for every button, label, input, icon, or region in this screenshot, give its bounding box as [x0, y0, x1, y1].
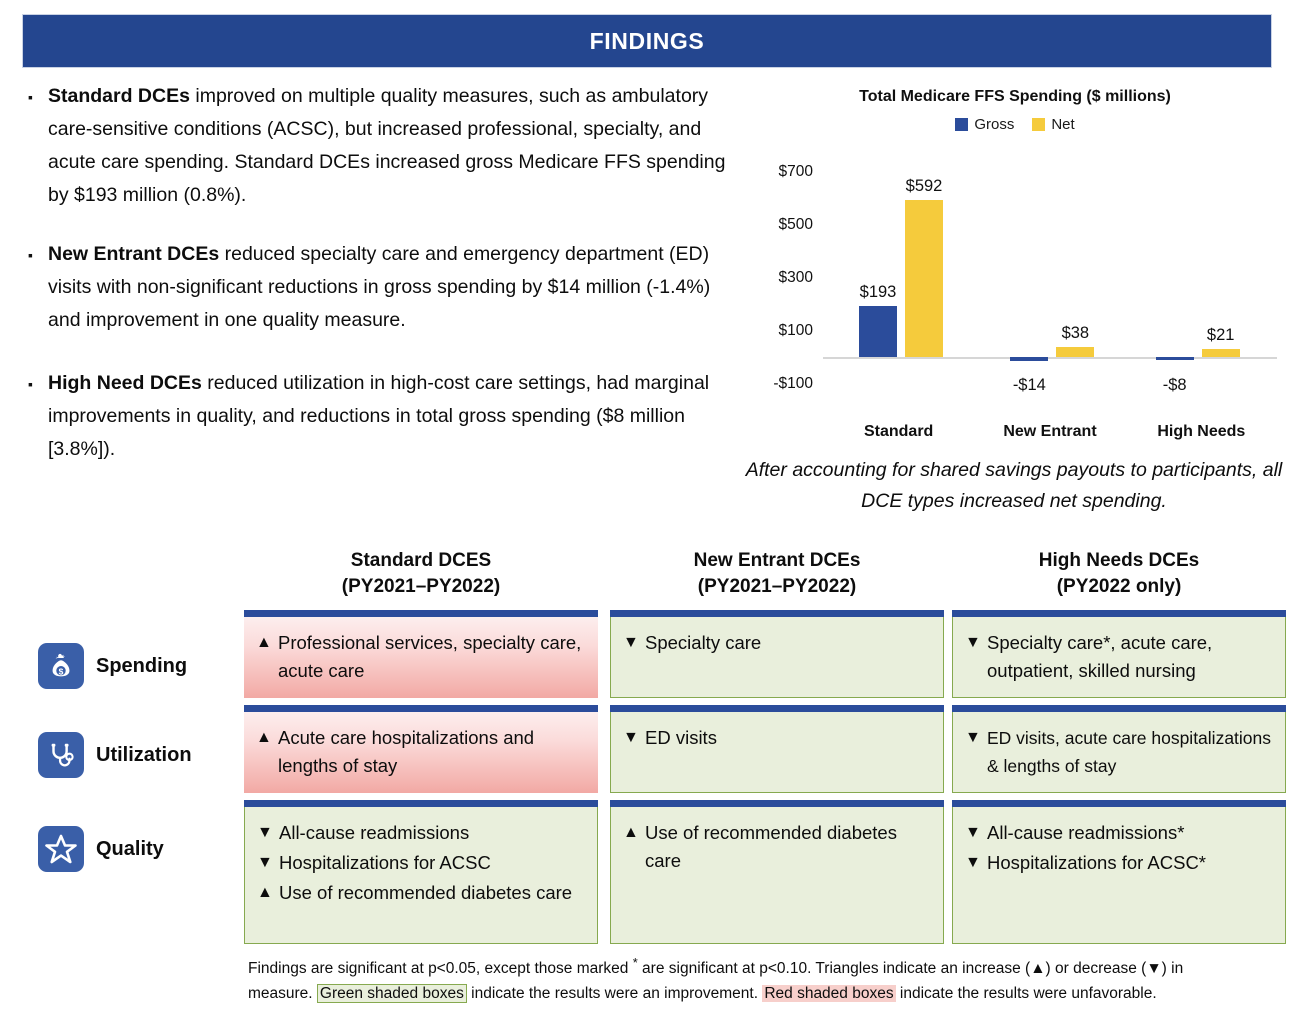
list-item: ▼ Hospitalizations for ACSC: [257, 849, 587, 877]
cell-spending-standard: ▲ Professional services, specialty care,…: [244, 610, 598, 698]
list-item-text: Professional services, specialty care, a…: [278, 629, 588, 685]
bar-group-high-needs: -$8 $21: [1126, 147, 1277, 397]
list-item: ▼ Hospitalizations for ACSC*: [965, 849, 1275, 877]
cell-top-accent: [244, 800, 598, 807]
list-item: ▲ Use of recommended diabetes care: [257, 879, 587, 907]
list-item: ▲ Acute care hospitalizations and length…: [256, 724, 588, 780]
triangle-down-icon: ▼: [965, 724, 987, 752]
bar-high-needs-gross: [1156, 357, 1194, 360]
bar-group-new-entrant: -$14 $38: [974, 147, 1125, 397]
cell-quality-standard: ▼ All-cause readmissions ▼ Hospitalizati…: [244, 800, 598, 944]
findings-bullet-list: ▪ Standard DCEs improved on multiple qua…: [28, 80, 734, 492]
footnote-green-phrase: Green shaded boxes: [317, 984, 467, 1003]
matrix-column-headers: Standard DCES (PY2021–PY2022) New Entran…: [22, 548, 1270, 608]
column-header-line1: New Entrant DCEs: [610, 548, 944, 574]
list-item: ▼ ED visits: [623, 724, 933, 752]
list-item: ▲ Use of recommended diabetes care: [623, 819, 933, 875]
column-header-line1: Standard DCES: [244, 548, 598, 574]
cell-quality-high-needs: ▼ All-cause readmissions* ▼ Hospitalizat…: [952, 800, 1286, 944]
cell-top-accent: [244, 705, 598, 712]
footnote-red-phrase: Red shaded boxes: [762, 985, 895, 1002]
list-item: ▼ Specialty care: [623, 629, 933, 657]
cell-top-accent: [952, 705, 1286, 712]
list-item-text: Acute care hospitalizations and lengths …: [278, 724, 588, 780]
bar-label-high-needs-gross: -$8: [1163, 376, 1187, 395]
bullet-text: Standard DCEs improved on multiple quali…: [48, 80, 734, 212]
cell-top-accent: [952, 610, 1286, 617]
legend-swatch-net: [1032, 118, 1045, 131]
bullet-lead: High Need DCEs: [48, 372, 202, 394]
bar-new-entrant-net: [1056, 347, 1094, 357]
cell-body: ▼ ED visits, acute care hospitalizations…: [952, 712, 1286, 793]
cell-top-accent: [610, 705, 944, 712]
triangle-down-icon: ▼: [623, 629, 645, 657]
bar-standard-gross: [859, 306, 897, 357]
chart-title: Total Medicare FFS Spending ($ millions): [745, 88, 1285, 106]
row-label-quality: Quality: [38, 826, 164, 872]
cell-body: ▼ All-cause readmissions* ▼ Hospitalizat…: [952, 807, 1286, 944]
cell-body: ▼ Specialty care: [610, 617, 944, 698]
bar-group-standard: $193 $592: [823, 147, 974, 397]
list-item-text: Hospitalizations for ACSC*: [987, 849, 1275, 877]
list-item: ▪ Standard DCEs improved on multiple qua…: [28, 80, 734, 212]
triangle-down-icon: ▼: [257, 819, 279, 847]
x-label-standard: Standard: [823, 423, 974, 441]
triangle-down-icon: ▼: [257, 849, 279, 877]
stethoscope-icon: [38, 732, 84, 778]
bar-label-new-entrant-gross: -$14: [1013, 376, 1046, 395]
cell-body: ▼ ED visits: [610, 712, 944, 793]
money-bag-icon: $: [38, 643, 84, 689]
x-axis-labels: Standard New Entrant High Needs: [823, 423, 1277, 441]
triangle-up-icon: ▲: [623, 819, 645, 847]
svg-text:$: $: [59, 666, 64, 676]
column-header-line1: High Needs DCEs: [952, 548, 1286, 574]
list-item-text: Specialty care*, acute care, outpatient,…: [987, 629, 1275, 685]
column-header-standard: Standard DCES (PY2021–PY2022): [244, 548, 598, 600]
triangle-up-icon: ▲: [256, 629, 278, 657]
list-item-text: Hospitalizations for ACSC: [279, 849, 587, 877]
cell-utilization-standard: ▲ Acute care hospitalizations and length…: [244, 705, 598, 793]
cell-top-accent: [952, 800, 1286, 807]
column-header-new-entrant: New Entrant DCEs (PY2021–PY2022): [610, 548, 944, 600]
column-header-line2: (PY2022 only): [952, 574, 1286, 600]
bar-label-new-entrant-net: $38: [1062, 324, 1090, 343]
cell-quality-new-entrant: ▲ Use of recommended diabetes care: [610, 800, 944, 944]
footnote: Findings are significant at p<0.05, exce…: [248, 950, 1248, 1006]
cell-top-accent: [610, 610, 944, 617]
cell-body: ▲ Professional services, specialty care,…: [244, 617, 598, 698]
bullet-lead: New Entrant DCEs: [48, 243, 219, 265]
row-label-utilization: Utilization: [38, 732, 192, 778]
findings-banner: FINDINGS: [22, 14, 1272, 68]
list-item-text: Use of recommended diabetes care: [645, 819, 933, 875]
legend-label-gross: Gross: [974, 116, 1014, 133]
chart-plot: $700 $500 $300 $100 -$100 $193 $592: [745, 147, 1285, 397]
list-item-text: All-cause readmissions*: [987, 819, 1275, 847]
cell-body: ▼ All-cause readmissions ▼ Hospitalizati…: [244, 807, 598, 944]
triangle-down-icon: ▼: [965, 849, 987, 877]
legend-item-net: Net: [1032, 116, 1074, 133]
triangle-up-icon: ▲: [257, 879, 279, 907]
chart-caption: After accounting for shared savings payo…: [738, 455, 1290, 517]
y-tick: $700: [779, 163, 813, 181]
footnote-part3: indicate the results were an improvement…: [467, 985, 763, 1002]
row-label-text: Quality: [96, 838, 164, 861]
bullet-text: New Entrant DCEs reduced specialty care …: [48, 238, 734, 337]
slide-page: FINDINGS ▪ Standard DCEs improved on mul…: [0, 0, 1292, 1033]
triangle-up-icon: ▲: [256, 724, 278, 752]
list-item-text: ED visits: [645, 724, 933, 752]
list-item: ▼ All-cause readmissions*: [965, 819, 1275, 847]
y-tick: $300: [779, 269, 813, 287]
cell-spending-high-needs: ▼ Specialty care*, acute care, outpatien…: [952, 610, 1286, 698]
bullet-marker-icon: ▪: [28, 238, 48, 337]
y-tick: -$100: [773, 375, 813, 393]
column-header-line2: (PY2021–PY2022): [610, 574, 944, 600]
cell-utilization-new-entrant: ▼ ED visits: [610, 705, 944, 793]
list-item-text: Specialty care: [645, 629, 933, 657]
triangle-down-icon: ▼: [965, 819, 987, 847]
y-axis: $700 $500 $300 $100 -$100: [745, 147, 817, 397]
bullet-text: High Need DCEs reduced utilization in hi…: [48, 367, 734, 466]
row-label-text: Utilization: [96, 744, 192, 767]
bullet-marker-icon: ▪: [28, 367, 48, 466]
cell-body: ▲ Use of recommended diabetes care: [610, 807, 944, 944]
cell-utilization-high-needs: ▼ ED visits, acute care hospitalizations…: [952, 705, 1286, 793]
list-item: ▼ All-cause readmissions: [257, 819, 587, 847]
list-item: ▲ Professional services, specialty care,…: [256, 629, 588, 685]
list-item-text: Use of recommended diabetes care: [279, 879, 587, 907]
chart-legend: Gross Net: [745, 116, 1285, 133]
star-icon: [38, 826, 84, 872]
bar-standard-net: [905, 200, 943, 357]
bullet-lead: Standard DCEs: [48, 85, 190, 107]
y-tick: $100: [779, 322, 813, 340]
bar-label-standard-gross: $193: [860, 283, 897, 302]
list-item: ▼ ED visits, acute care hospitalizations…: [965, 724, 1275, 780]
column-header-high-needs: High Needs DCEs (PY2022 only): [952, 548, 1286, 600]
bar-high-needs-net: [1202, 349, 1240, 357]
cell-body: ▲ Acute care hospitalizations and length…: [244, 712, 598, 793]
list-item: ▪ New Entrant DCEs reduced specialty car…: [28, 238, 734, 337]
triangle-down-icon: ▼: [623, 724, 645, 752]
cell-top-accent: [244, 610, 598, 617]
cell-top-accent: [610, 800, 944, 807]
list-item: ▼ Specialty care*, acute care, outpatien…: [965, 629, 1275, 685]
bar-label-high-needs-net: $21: [1207, 326, 1235, 345]
legend-label-net: Net: [1051, 116, 1074, 133]
column-header-line2: (PY2021–PY2022): [244, 574, 598, 600]
legend-item-gross: Gross: [955, 116, 1014, 133]
cell-spending-new-entrant: ▼ Specialty care: [610, 610, 944, 698]
x-label-high-needs: High Needs: [1126, 423, 1277, 441]
cell-body: ▼ Specialty care*, acute care, outpatien…: [952, 617, 1286, 698]
plot-area: $193 $592 -$14 $38 -$8: [823, 147, 1277, 397]
y-tick: $500: [779, 216, 813, 234]
spending-bar-chart: Total Medicare FFS Spending ($ millions)…: [745, 84, 1285, 444]
list-item-text: All-cause readmissions: [279, 819, 587, 847]
row-label-text: Spending: [96, 655, 187, 678]
footnote-part1: Findings are significant at p<0.05, exce…: [248, 960, 633, 977]
row-label-spending: $ Spending: [38, 643, 187, 689]
footnote-part4: indicate the results were unfavorable.: [896, 985, 1157, 1002]
bullet-marker-icon: ▪: [28, 80, 48, 212]
bar-label-standard-net: $592: [906, 177, 943, 196]
bar-new-entrant-gross: [1010, 357, 1048, 361]
page-title: FINDINGS: [590, 28, 705, 55]
list-item: ▪ High Need DCEs reduced utilization in …: [28, 367, 734, 466]
legend-swatch-gross: [955, 118, 968, 131]
triangle-down-icon: ▼: [965, 629, 987, 657]
list-item-text: ED visits, acute care hospitalizations &…: [987, 724, 1275, 780]
x-label-new-entrant: New Entrant: [974, 423, 1125, 441]
bar-groups: $193 $592 -$14 $38 -$8: [823, 147, 1277, 397]
